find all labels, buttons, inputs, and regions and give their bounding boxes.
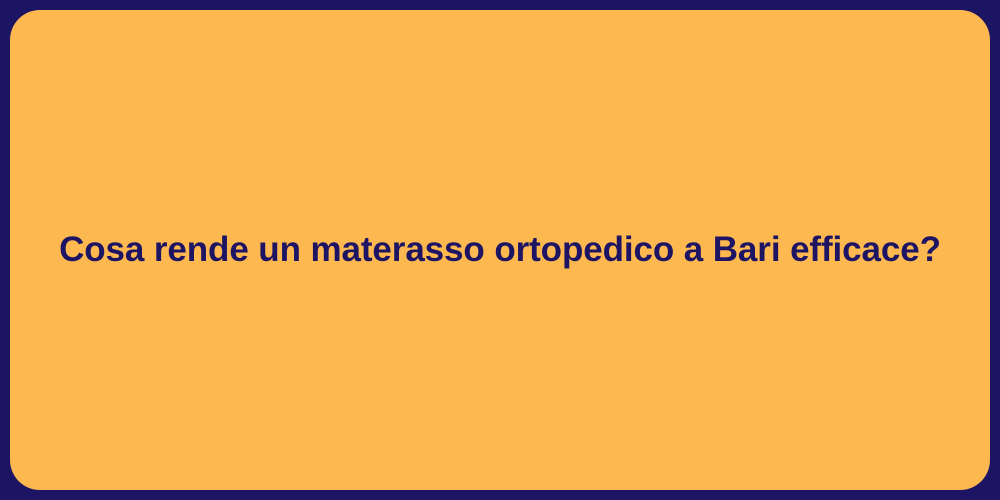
content-card: Cosa rende un materasso ortopedico a Bar…	[10, 10, 990, 490]
banner-root: Cosa rende un materasso ortopedico a Bar…	[0, 0, 1000, 500]
page-title: Cosa rende un materasso ortopedico a Bar…	[35, 229, 965, 270]
